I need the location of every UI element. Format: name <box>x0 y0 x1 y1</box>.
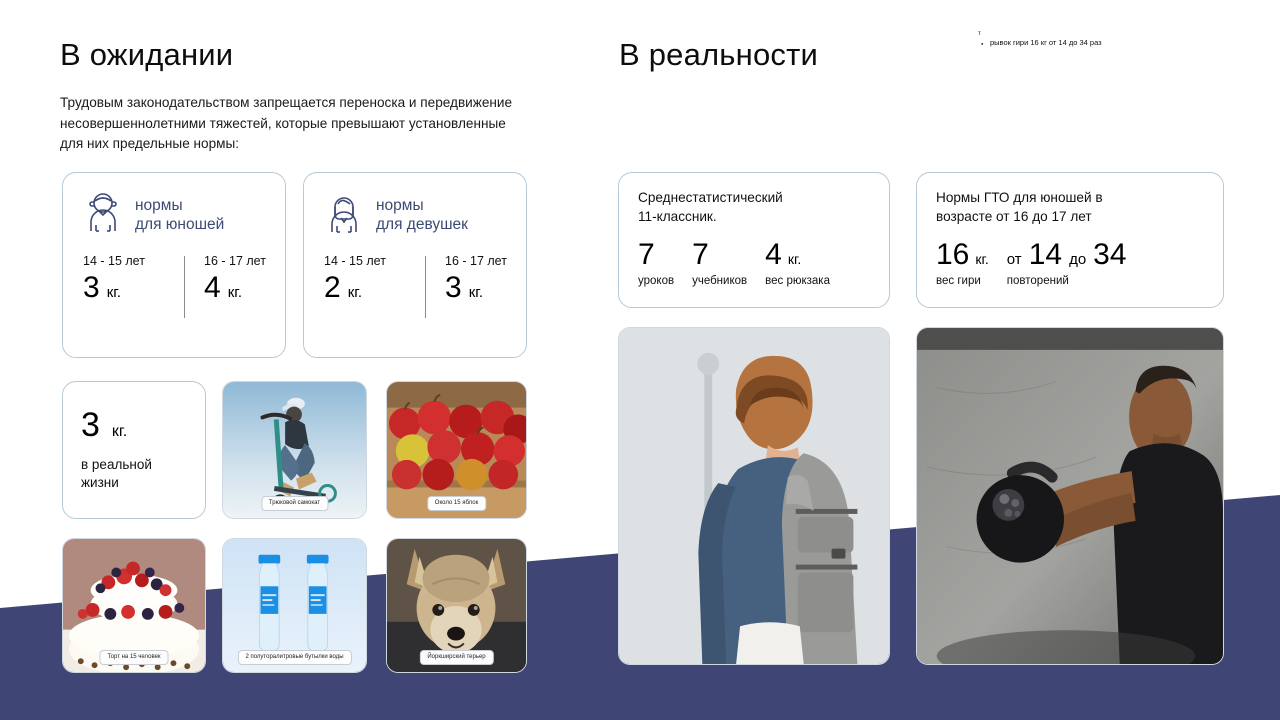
norms-column: 16 - 17 лет 3 кг. <box>423 254 522 306</box>
weight-value-row: 4 кг. <box>204 270 281 306</box>
stat-value: 7 <box>692 238 709 272</box>
photo-caption: Трюковой самокат <box>261 496 328 511</box>
weight-value-row: 3 кг. <box>83 270 182 306</box>
photo-dog: Йоркширский терьер <box>386 538 527 673</box>
stat-caption: повторений <box>1007 275 1127 287</box>
girl-icon <box>326 191 362 238</box>
weight-number: 3 <box>81 406 100 444</box>
photo-caption: Торт на 15 человек <box>99 650 168 665</box>
reps-from-value: 14 <box>1029 238 1062 272</box>
weight-unit: кг. <box>348 284 362 301</box>
weight-value-row: 3 кг. <box>81 406 205 444</box>
gto-stats-row: 16 кг. вес гири от 14 до 34 повторений <box>917 226 1223 287</box>
age-label: 14 - 15 лет <box>83 254 182 268</box>
norms-card-girls: нормы для девушек 14 - 15 лет 2 кг. 16 -… <box>303 172 527 358</box>
stat-repetitions: от 14 до 34 повторений <box>1007 238 1127 287</box>
stat-caption: уроков <box>638 275 674 287</box>
weight-number: 3 <box>445 270 462 306</box>
page-title-left: В ожидании <box>60 37 233 73</box>
age-label: 16 - 17 лет <box>445 254 522 268</box>
stat-value: 7 <box>638 238 655 272</box>
stat-value: 16 <box>936 238 969 272</box>
photo-water-bottles: 2 полуторалитровые бутылки воды <box>222 538 367 673</box>
student-stats-row: 7 уроков 7 учебников 4 кг. вес рюкзака <box>619 226 889 287</box>
gto-standards-card: Нормы ГТО для юношей в возрасте от 16 до… <box>916 172 1224 308</box>
student-card-title: Среднестатистический 11-классник. <box>619 173 889 226</box>
stat-backpack-weight: 4 кг. вес рюкзака <box>765 238 830 287</box>
reps-to-value: 34 <box>1093 238 1126 272</box>
slide-root: В ожидании Трудовым законодательством за… <box>0 0 1280 720</box>
reps-to-word: до <box>1069 251 1086 268</box>
footnote-line-2: рывок гири 16 кг от 14 до 34 раз <box>978 38 1102 48</box>
norms-column: 16 - 17 лет 4 кг. <box>182 254 281 306</box>
photo-cake: Торт на 15 человек <box>62 538 206 673</box>
real-life-weight-card: 3 кг. в реальной жизни <box>62 381 206 519</box>
footnote-text: т рывок гири 16 кг от 14 до 34 раз <box>978 30 1102 48</box>
weight-value-row: 2 кг. <box>324 270 423 306</box>
stat-textbooks: 7 учебников <box>692 238 747 287</box>
photo-apples: Около 15 яблок <box>386 381 527 519</box>
stat-caption: вес рюкзака <box>765 275 830 287</box>
student-stats-card: Среднестатистический 11-классник. 7 урок… <box>618 172 890 308</box>
weight-value-row: 3 кг. <box>445 270 522 306</box>
norms-card-header: нормы для юношей <box>63 173 285 238</box>
stat-value: 4 <box>765 238 782 272</box>
intro-paragraph: Трудовым законодательством запрещается п… <box>60 93 530 155</box>
weight-number: 2 <box>324 270 341 306</box>
norms-card-title: нормы для девушек <box>376 196 468 234</box>
weight-unit: кг. <box>469 284 483 301</box>
weight-number: 4 <box>204 270 221 306</box>
photo-scooter: . Трюковой самокат <box>222 381 367 519</box>
norms-card-boys: нормы для юношей 14 - 15 лет 3 кг. 16 - … <box>62 172 286 358</box>
reps-from-word: от <box>1007 251 1022 268</box>
stat-kettlebell-weight: 16 кг. вес гири <box>936 238 989 287</box>
page-title-right: В реальности <box>619 37 818 73</box>
norms-card-header: нормы для девушек <box>304 173 526 238</box>
real-life-caption: в реальной жизни <box>81 456 205 492</box>
photo-caption: 2 полуторалитровые бутылки воды <box>237 650 351 665</box>
stat-caption: вес гири <box>936 275 989 287</box>
weight-unit: кг. <box>228 284 242 301</box>
weight-unit: кг. <box>107 284 121 301</box>
norms-column: 14 - 15 лет 2 кг. <box>324 254 423 306</box>
weight-number: 3 <box>83 270 100 306</box>
gto-card-title: Нормы ГТО для юношей в возрасте от 16 до… <box>917 173 1223 226</box>
age-label: 16 - 17 лет <box>204 254 281 268</box>
photo-boy-with-backpack <box>618 327 890 665</box>
age-label: 14 - 15 лет <box>324 254 423 268</box>
norms-card-title: нормы для юношей <box>135 196 224 234</box>
photo-caption: Около 15 яблок <box>427 496 486 511</box>
stat-caption: учебников <box>692 275 747 287</box>
norms-columns: 14 - 15 лет 2 кг. 16 - 17 лет 3 кг. <box>304 254 526 306</box>
stat-lessons: 7 уроков <box>638 238 674 287</box>
photo-man-with-kettlebell <box>916 327 1224 665</box>
stat-unit: кг. <box>788 251 801 267</box>
norms-column: 14 - 15 лет 3 кг. <box>83 254 182 306</box>
footnote-line-1: т <box>978 30 1102 38</box>
weight-unit: кг. <box>112 423 127 441</box>
norms-columns: 14 - 15 лет 3 кг. 16 - 17 лет 4 кг. <box>63 254 285 306</box>
photo-caption: Йоркширский терьер <box>419 650 493 665</box>
stat-unit: кг. <box>975 251 988 267</box>
boy-icon <box>85 191 121 238</box>
